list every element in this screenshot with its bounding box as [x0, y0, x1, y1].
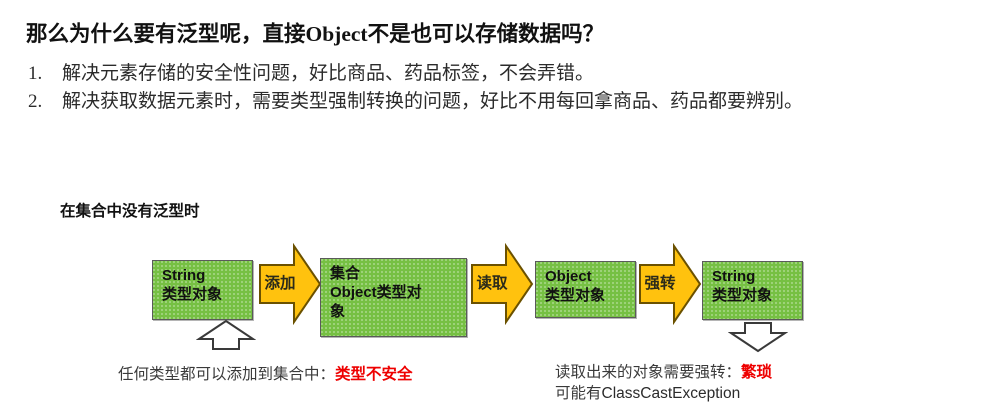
- box-line-2: 类型对象: [712, 286, 802, 305]
- box-line-1: Object: [545, 267, 635, 286]
- list-item-text: 解决获取数据元素时，需要类型强制转换的问题，好比不用每回拿商品、药品都要辨别。: [62, 88, 956, 115]
- diagram-box-string-result: String 类型对象: [702, 261, 803, 320]
- list-item: 1. 解决元素存储的安全性问题，好比商品、药品标签，不会弄错。: [26, 60, 956, 87]
- list-item: 2. 解决获取数据元素时，需要类型强制转换的问题，好比不用每回拿商品、药品都要辨…: [26, 88, 956, 115]
- caption-right-highlight: 繁琐: [741, 364, 772, 381]
- flow-diagram: 在集合中没有泛型时 String 类型对象 添加 集合 Object类型对 象 …: [0, 185, 989, 416]
- diagram-box-object-read: Object 类型对象: [535, 261, 636, 318]
- caption-right-line-2: 可能有ClassCastException: [555, 384, 740, 404]
- diagram-box-collection-object: 集合 Object类型对 象: [320, 258, 467, 337]
- diagram-title: 在集合中没有泛型时: [60, 199, 200, 221]
- box-line-3: 象: [330, 302, 466, 321]
- list-item-text: 解决元素存储的安全性问题，好比商品、药品标签，不会弄错。: [62, 60, 956, 87]
- list-item-marker: 2.: [28, 88, 54, 115]
- caption-left-highlight: 类型不安全: [335, 366, 413, 383]
- up-arrow-icon: [196, 319, 256, 351]
- diagram-arrow-cast: 强转: [638, 243, 702, 325]
- down-arrow-icon: [728, 321, 788, 353]
- diagram-arrow-read: 读取: [470, 243, 534, 325]
- exception-name: ClassCastException: [602, 385, 741, 402]
- caption-left-text: 任何类型都可以添加到集合中：: [118, 366, 335, 383]
- caption-left: 任何类型都可以添加到集合中：类型不安全: [118, 365, 413, 385]
- box-line-2: Object类型对: [330, 283, 466, 302]
- caption-right-line-1: 读取出来的对象需要强转：繁琐: [555, 363, 772, 383]
- reason-list: 1. 解决元素存储的安全性问题，好比商品、药品标签，不会弄错。 2. 解决获取数…: [26, 60, 956, 116]
- caption-right-text: 读取出来的对象需要强转：: [555, 364, 741, 381]
- diagram-arrow-add: 添加: [258, 243, 322, 325]
- box-line-2: 类型对象: [545, 286, 635, 305]
- list-item-marker: 1.: [28, 60, 54, 87]
- box-line-2: 类型对象: [162, 285, 252, 304]
- box-line-1: 集合: [330, 264, 466, 283]
- box-line-1: String: [162, 266, 252, 285]
- page-title: 那么为什么要有泛型呢，直接Object不是也可以存储数据吗？: [26, 20, 956, 48]
- box-line-1: String: [712, 267, 802, 286]
- caption-right-prefix: 可能有: [555, 385, 602, 402]
- diagram-box-string-source: String 类型对象: [152, 260, 253, 320]
